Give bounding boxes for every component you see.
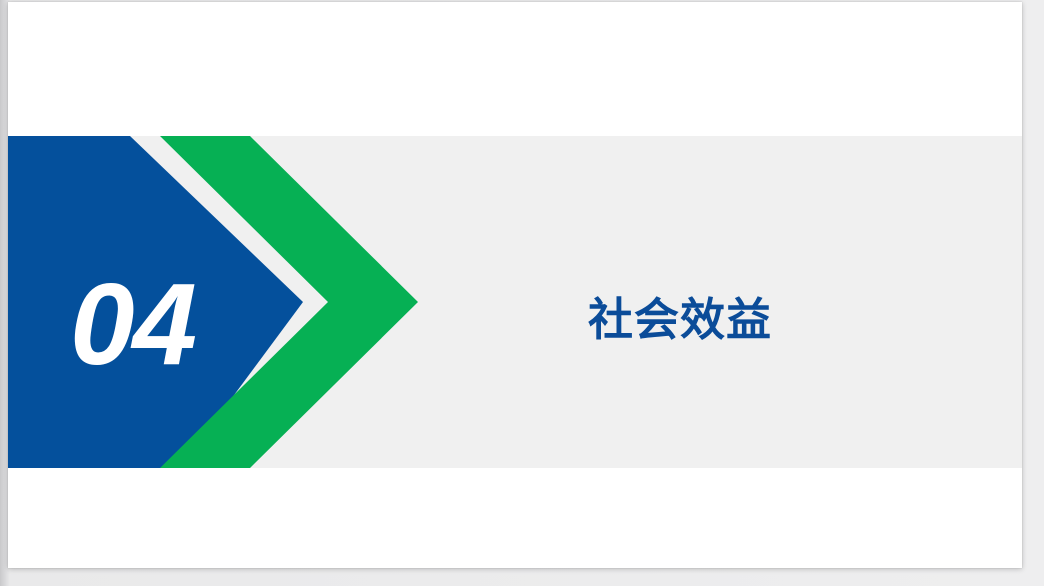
slide: 04 社会效益: [8, 2, 1022, 568]
section-number: 04: [70, 264, 240, 384]
page-title: 社会效益: [588, 292, 772, 348]
presentation-canvas: 04 社会效益: [0, 0, 1044, 586]
